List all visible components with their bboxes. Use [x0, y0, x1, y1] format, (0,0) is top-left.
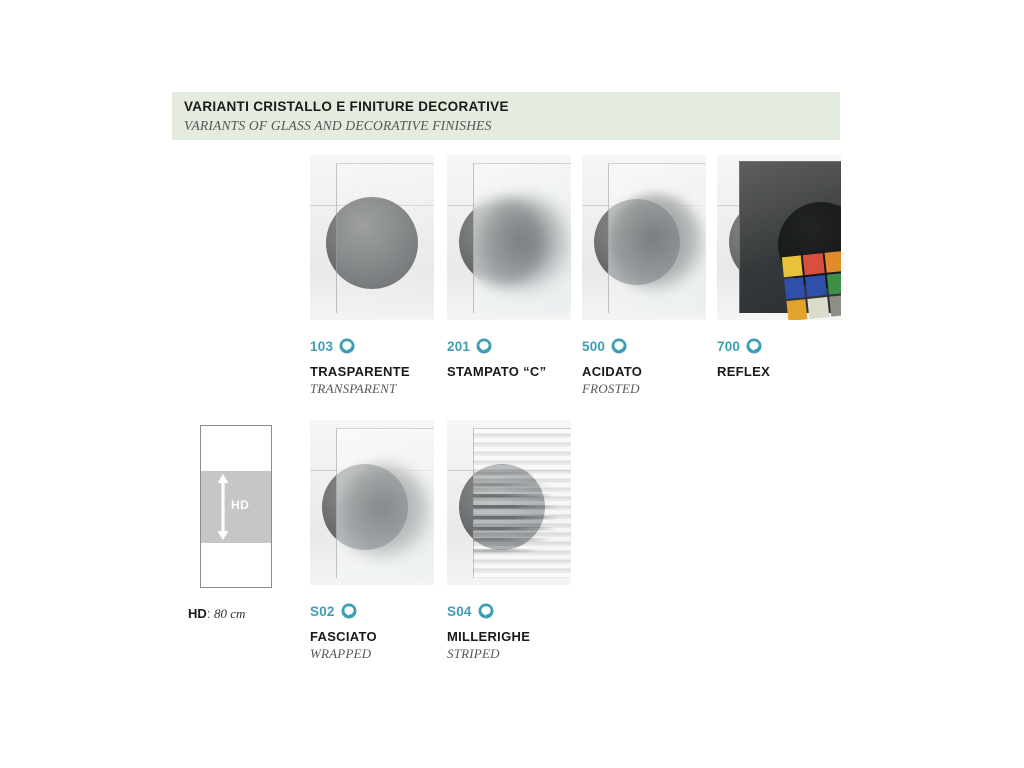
sample-code-line: 700: [717, 337, 841, 355]
sample-image-reflex: [717, 155, 841, 320]
sample-card-103[interactable]: 103 TRASPARENTE TRANSPARENT: [310, 155, 434, 397]
sample-card-S02[interactable]: S02 FASCIATO WRAPPED: [310, 420, 434, 662]
diffused-sphere: [338, 464, 432, 560]
glass-sample-icon: [339, 338, 355, 354]
page-title: VARIANTI CRISTALLO E FINITURE DECORATIVE: [184, 99, 840, 115]
sample-image-stampato-c: [447, 155, 571, 320]
sample-name-it: STAMPATO “C”: [447, 364, 571, 379]
sample-name-en: TRANSPARENT: [310, 381, 434, 397]
striped-sphere-smear: [473, 472, 571, 556]
sample-card-700[interactable]: 700 REFLEX: [717, 155, 841, 381]
sample-caption: S02 FASCIATO WRAPPED: [310, 602, 434, 662]
sample-caption: S04 MILLERIGHE STRIPED: [447, 602, 571, 662]
sample-name-it: FASCIATO: [310, 629, 434, 644]
glass-pane: [336, 163, 434, 313]
sample-code-line: 201: [447, 337, 571, 355]
hd-double-arrow-icon: [217, 474, 229, 540]
sample-name-en: FROSTED: [582, 381, 706, 397]
glass-sample-icon: [478, 603, 494, 619]
sample-code-line: 103: [310, 337, 434, 355]
sample-card-S04[interactable]: S04 MILLERIGHE STRIPED: [447, 420, 571, 662]
glass-sample-icon: [611, 338, 627, 354]
sample-name-en: WRAPPED: [310, 646, 434, 662]
sample-code: 201: [447, 339, 470, 354]
sample-image-striped: [447, 420, 571, 585]
hd-diagram: HD HD: 80 cm: [200, 425, 280, 622]
sample-caption: 103 TRASPARENTE TRANSPARENT: [310, 337, 434, 397]
sample-code-line: S04: [447, 602, 571, 620]
sample-image-frosted: [582, 155, 706, 320]
sample-code-line: S02: [310, 602, 434, 620]
sample-image-transparent: [310, 155, 434, 320]
sample-name-it: ACIDATO: [582, 364, 706, 379]
sample-name-it: TRASPARENTE: [310, 364, 434, 379]
sample-image-wrapped: [310, 420, 434, 585]
section-header-band: VARIANTI CRISTALLO E FINITURE DECORATIVE…: [172, 92, 840, 140]
hd-caption: HD: 80 cm: [188, 606, 280, 622]
sample-name-it: MILLERIGHE: [447, 629, 571, 644]
hd-band-label: HD: [231, 498, 249, 512]
hd-caption-key: HD: [188, 606, 207, 621]
glass-sample-icon: [341, 603, 357, 619]
sample-code: 103: [310, 339, 333, 354]
hd-panel-outline: HD: [200, 425, 272, 588]
sample-card-201[interactable]: 201 STAMPATO “C”: [447, 155, 571, 381]
color-checker-chart: [782, 251, 841, 320]
sample-caption: 700 REFLEX: [717, 337, 841, 379]
page-subtitle: VARIANTS OF GLASS AND DECORATIVE FINISHE…: [184, 117, 840, 134]
hd-caption-value: 80 cm: [214, 606, 245, 621]
diffused-sphere: [477, 195, 571, 295]
sample-caption: 201 STAMPATO “C”: [447, 337, 571, 379]
sample-name-it: REFLEX: [717, 364, 841, 379]
sample-card-500[interactable]: 500 ACIDATO FROSTED: [582, 155, 706, 397]
glass-sample-icon: [746, 338, 762, 354]
sample-code-line: 500: [582, 337, 706, 355]
sample-code: 700: [717, 339, 740, 354]
sample-name-en: STRIPED: [447, 646, 571, 662]
sample-code: S02: [310, 604, 335, 619]
sample-caption: 500 ACIDATO FROSTED: [582, 337, 706, 397]
sample-code: S04: [447, 604, 472, 619]
sample-code: 500: [582, 339, 605, 354]
hd-caption-separator: :: [207, 606, 211, 621]
glass-sample-icon: [476, 338, 492, 354]
diffused-sphere: [608, 193, 706, 293]
